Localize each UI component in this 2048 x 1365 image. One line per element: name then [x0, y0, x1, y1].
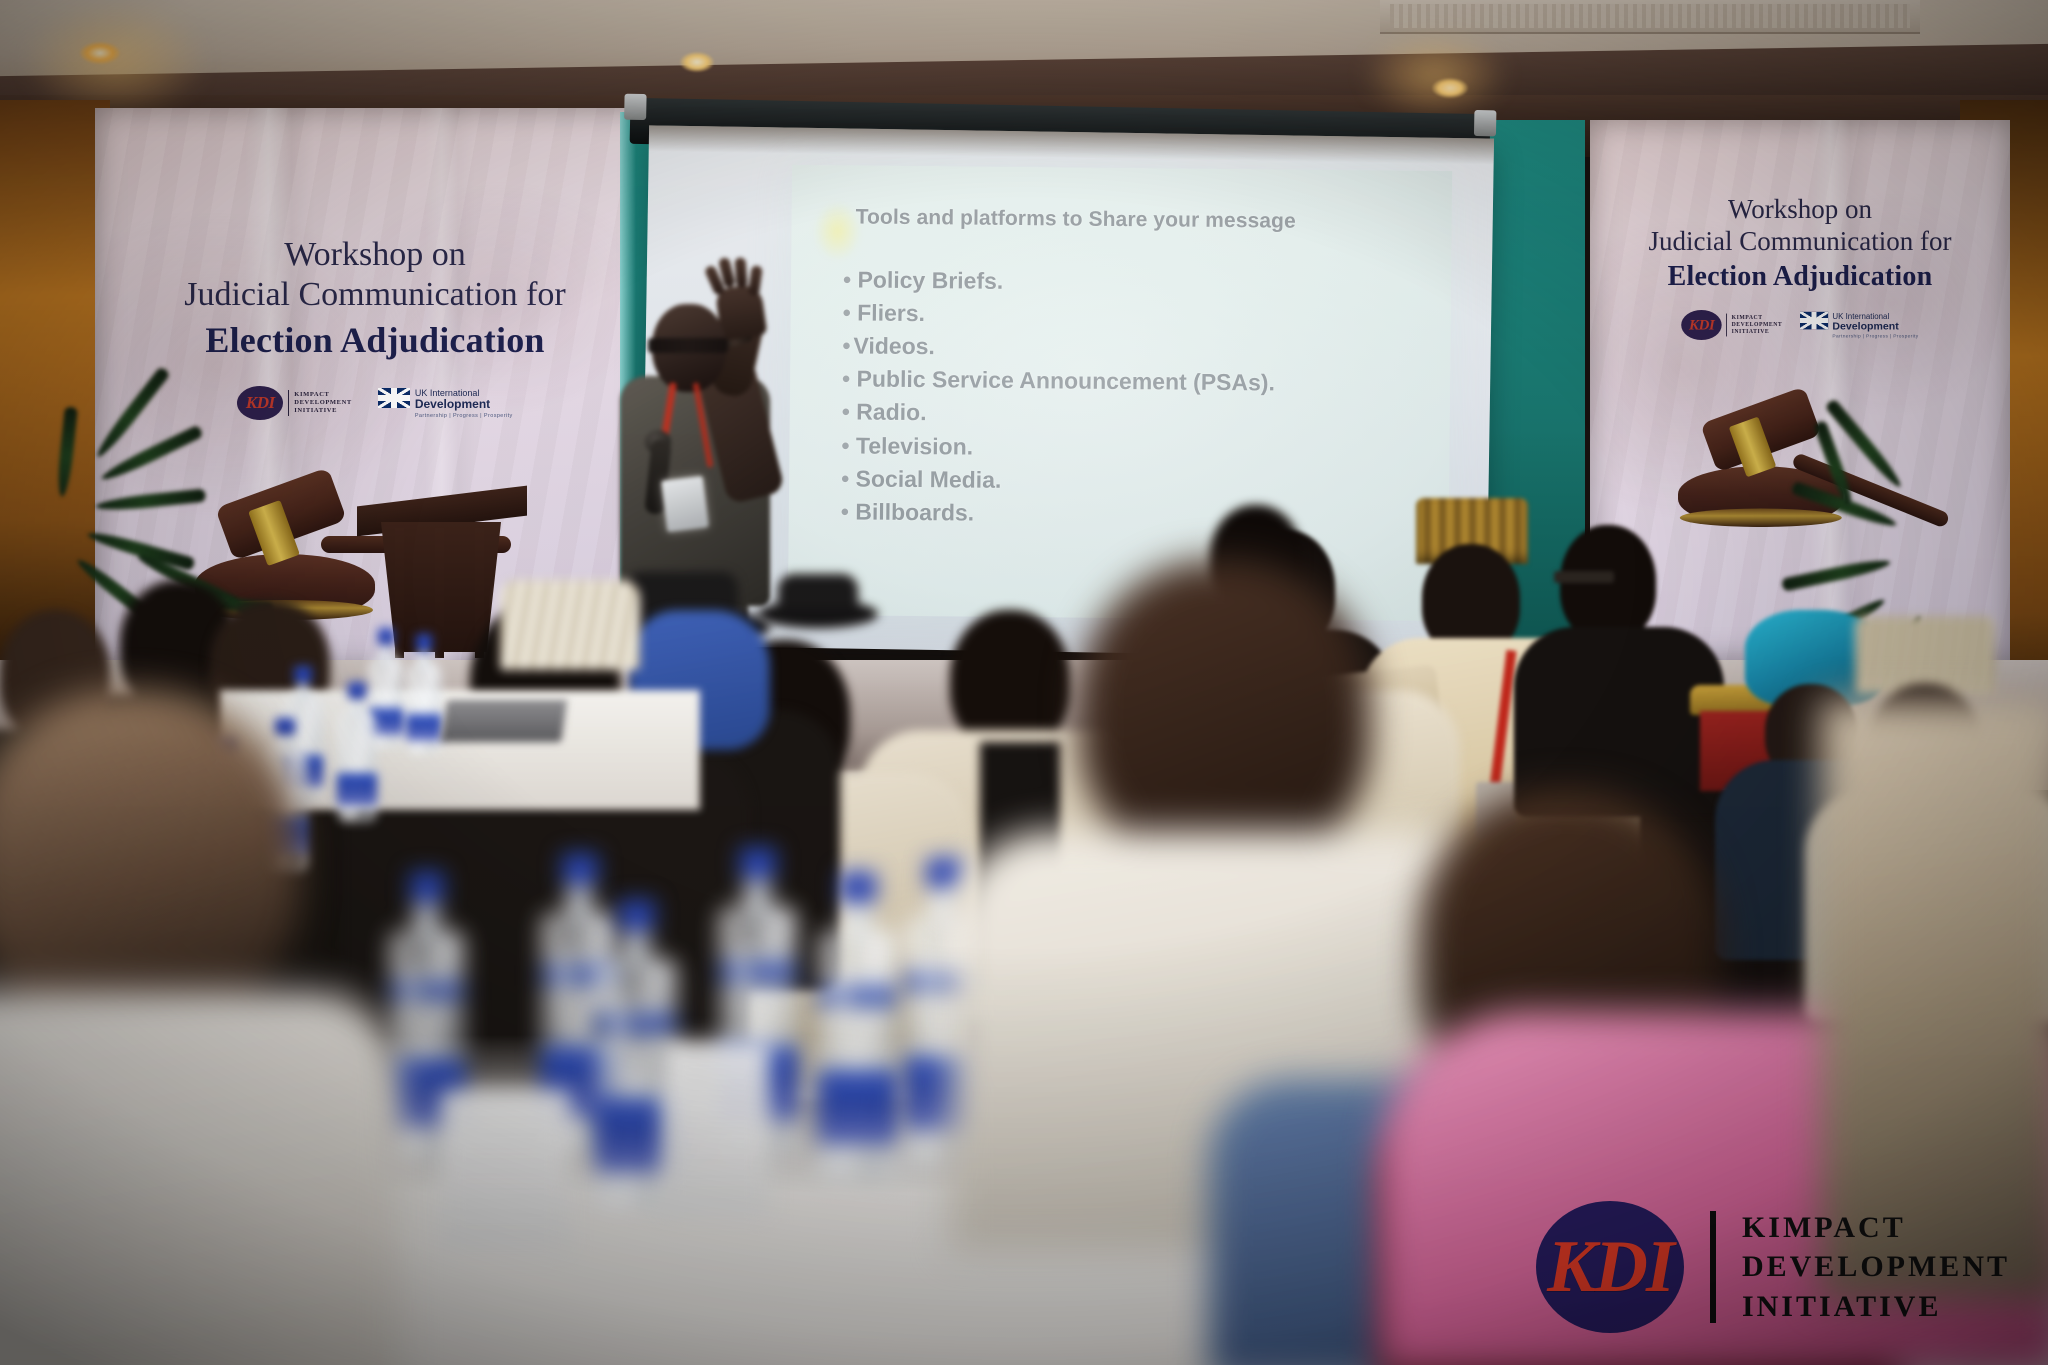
bottle-label: [406, 714, 442, 742]
projector-hotspot: [813, 201, 862, 261]
slide-bullet: Television.: [841, 429, 1431, 468]
bottle-neck: [622, 924, 652, 964]
bottle-cap: [562, 854, 597, 884]
finger: [734, 257, 747, 288]
kdi-logo-icon: KDI KIMPACT DEVELOPMENT INITIATIVE: [237, 386, 352, 420]
bottle-cap: [275, 718, 295, 735]
ceiling-spotlight-icon: [680, 52, 714, 72]
shoulders: [1514, 627, 1724, 817]
uk-logo-wordmark: UK International Development Partnership…: [1832, 311, 1918, 338]
kdi-watermark-line2: DEVELOPMENT: [1742, 1247, 2010, 1287]
slide-bullet: Public Service Announcement (PSAs).: [842, 363, 1432, 402]
drinking-glass: [660, 1040, 770, 1215]
gavel-block-rim: [1680, 509, 1842, 527]
fedora-crown: [778, 574, 858, 608]
bottle-cap: [378, 628, 394, 645]
slide-bullet-list: Policy Briefs. Fliers. Videos. Public Se…: [841, 263, 1434, 534]
kdi-watermark-line1: KIMPACT: [1742, 1208, 2010, 1248]
uk-aid-logo-icon: UK International Development Partnership…: [378, 388, 513, 419]
banner-left-line1: Workshop on: [95, 236, 655, 274]
kdi-divider: [288, 390, 289, 416]
slide-title: Tools and platforms to Share your messag…: [856, 205, 1430, 235]
head: [1560, 525, 1656, 641]
vent-louvers: [1390, 4, 1910, 28]
name-badge: [661, 476, 709, 533]
bottle-highlight: [736, 936, 747, 1041]
kdi-watermark-line3: INITIATIVE: [1742, 1287, 2010, 1327]
kdi-watermark-oval: KDI: [1536, 1201, 1684, 1333]
bottle-neck: [566, 878, 595, 918]
bottle-cap: [348, 682, 366, 699]
bottle-cap: [619, 900, 656, 930]
bottle-label: [818, 1070, 898, 1145]
roller-bracket-right: [1474, 110, 1496, 136]
ceiling-vent-panel: [1380, 0, 1920, 34]
banner-right-line1: Workshop on: [1590, 194, 2010, 224]
bottle-neck: [844, 896, 873, 936]
uk-aid-logo-icon: UK International Development Partnership…: [1800, 311, 1919, 338]
ceiling-spotlight-icon: [80, 42, 120, 64]
bottle-cap: [416, 634, 432, 651]
embroidered-cap-icon: [500, 580, 640, 670]
bottle-highlight: [405, 958, 416, 1055]
laptop: [441, 700, 567, 742]
kdi-oval-mark: KDI: [237, 386, 283, 420]
kdi-word-3: INITIATIVE: [1732, 329, 1783, 336]
bottle-highlight: [836, 960, 847, 1065]
podium-leg: [395, 528, 404, 658]
union-jack-icon: [1800, 311, 1828, 329]
kdi-divider: [1726, 314, 1727, 337]
slide-bullet: Policy Briefs.: [843, 263, 1433, 302]
head: [1080, 560, 1370, 860]
slide-bullet: Fliers.: [843, 296, 1433, 335]
slide-bullet: Social Media.: [841, 462, 1431, 501]
slide-bullet: Billboards.: [841, 495, 1431, 534]
bottle-cap: [410, 872, 444, 902]
bottle-label-upper: [388, 981, 466, 1002]
banner-right-logos: KDI KIMPACT DEVELOPMENT INITIATIVE UK In…: [1615, 310, 1985, 340]
kdi-mark-text: KDI: [1689, 316, 1714, 334]
bottle-cap: [740, 848, 775, 878]
slide-bullet: Videos.: [842, 330, 1432, 369]
conference-photo-scene: Workshop on Judicial Communication for E…: [0, 0, 2048, 1365]
banner-left-line2: Judicial Communication for: [95, 276, 655, 314]
bottle-neck: [744, 872, 773, 912]
head: [950, 610, 1070, 750]
bottle-label-upper: [595, 1013, 679, 1036]
uk-word-2: Development: [1832, 319, 1918, 331]
ceiling-light-glow: [1360, 30, 1510, 120]
uk-tagline: Partnership | Progress | Prosperity: [1832, 333, 1918, 338]
bottle-cap: [840, 872, 875, 902]
bottle-cap: [927, 858, 962, 888]
banner-right-line2: Judicial Communication for: [1590, 226, 2010, 256]
uk-word-2: Development: [415, 397, 513, 411]
podium-leg: [435, 528, 444, 658]
kdi-word-1: KIMPACT: [294, 391, 352, 399]
bottle-label-upper: [818, 985, 898, 1008]
kdi-word-1: KIMPACT: [1732, 314, 1783, 321]
banner-left-line3: Election Adjudication: [95, 320, 655, 360]
kdi-oval-mark: KDI: [1681, 310, 1721, 340]
uk-logo-wordmark: UK International Development Partnership…: [415, 388, 513, 419]
bottle-highlight: [414, 673, 419, 712]
kdi-logo-wordmark: KIMPACT DEVELOPMENT INITIATIVE: [1732, 314, 1783, 335]
kdi-logo-wordmark: KIMPACT DEVELOPMENT INITIATIVE: [294, 391, 352, 415]
kdi-watermark: KDI KIMPACT DEVELOPMENT INITIATIVE: [1520, 1191, 2026, 1343]
bottle-highlight: [923, 946, 934, 1051]
drinking-glass: [440, 1090, 570, 1250]
shoulders: [0, 990, 400, 1365]
kdi-watermark-wordmark: KIMPACT DEVELOPMENT INITIATIVE: [1742, 1208, 2010, 1327]
water-bottle: [337, 710, 377, 822]
eyeglasses-icon: [648, 338, 728, 353]
bottle-label-upper: [718, 961, 798, 984]
banner-right-line3: Election Adjudication: [1590, 261, 2010, 292]
kdi-watermark-divider: [1710, 1211, 1716, 1323]
union-jack-icon: [378, 388, 410, 408]
bottle-cap: [294, 666, 312, 683]
kdi-word-3: INITIATIVE: [294, 407, 352, 415]
kdi-logo-icon: KDI KIMPACT DEVELOPMENT INITIATIVE: [1681, 310, 1782, 340]
roller-bracket-left: [624, 94, 646, 120]
kdi-watermark-mark: KDI: [1547, 1225, 1673, 1310]
kdi-mark-text: KDI: [246, 393, 275, 413]
head: [0, 690, 300, 1020]
embroidered-cap-icon: [1855, 616, 1995, 694]
eyeglasses-icon: [1554, 571, 1614, 583]
bottle-highlight: [376, 667, 381, 706]
bottle-highlight: [558, 941, 569, 1042]
projected-slide: Tools and platforms to Share your messag…: [788, 165, 1452, 621]
slide-bullet: Radio.: [842, 396, 1432, 435]
bottle-label: [337, 773, 377, 807]
kdi-word-2: DEVELOPMENT: [294, 399, 352, 407]
bottle-neck: [413, 896, 441, 936]
uk-tagline: Partnership | Progress | Prosperity: [415, 413, 513, 419]
water-bottle: [406, 662, 442, 754]
kdi-word-2: DEVELOPMENT: [1732, 321, 1783, 328]
banner-left-logos: KDI KIMPACT DEVELOPMENT INITIATIVE UK In…: [95, 386, 655, 420]
water-bottle: [818, 930, 898, 1180]
